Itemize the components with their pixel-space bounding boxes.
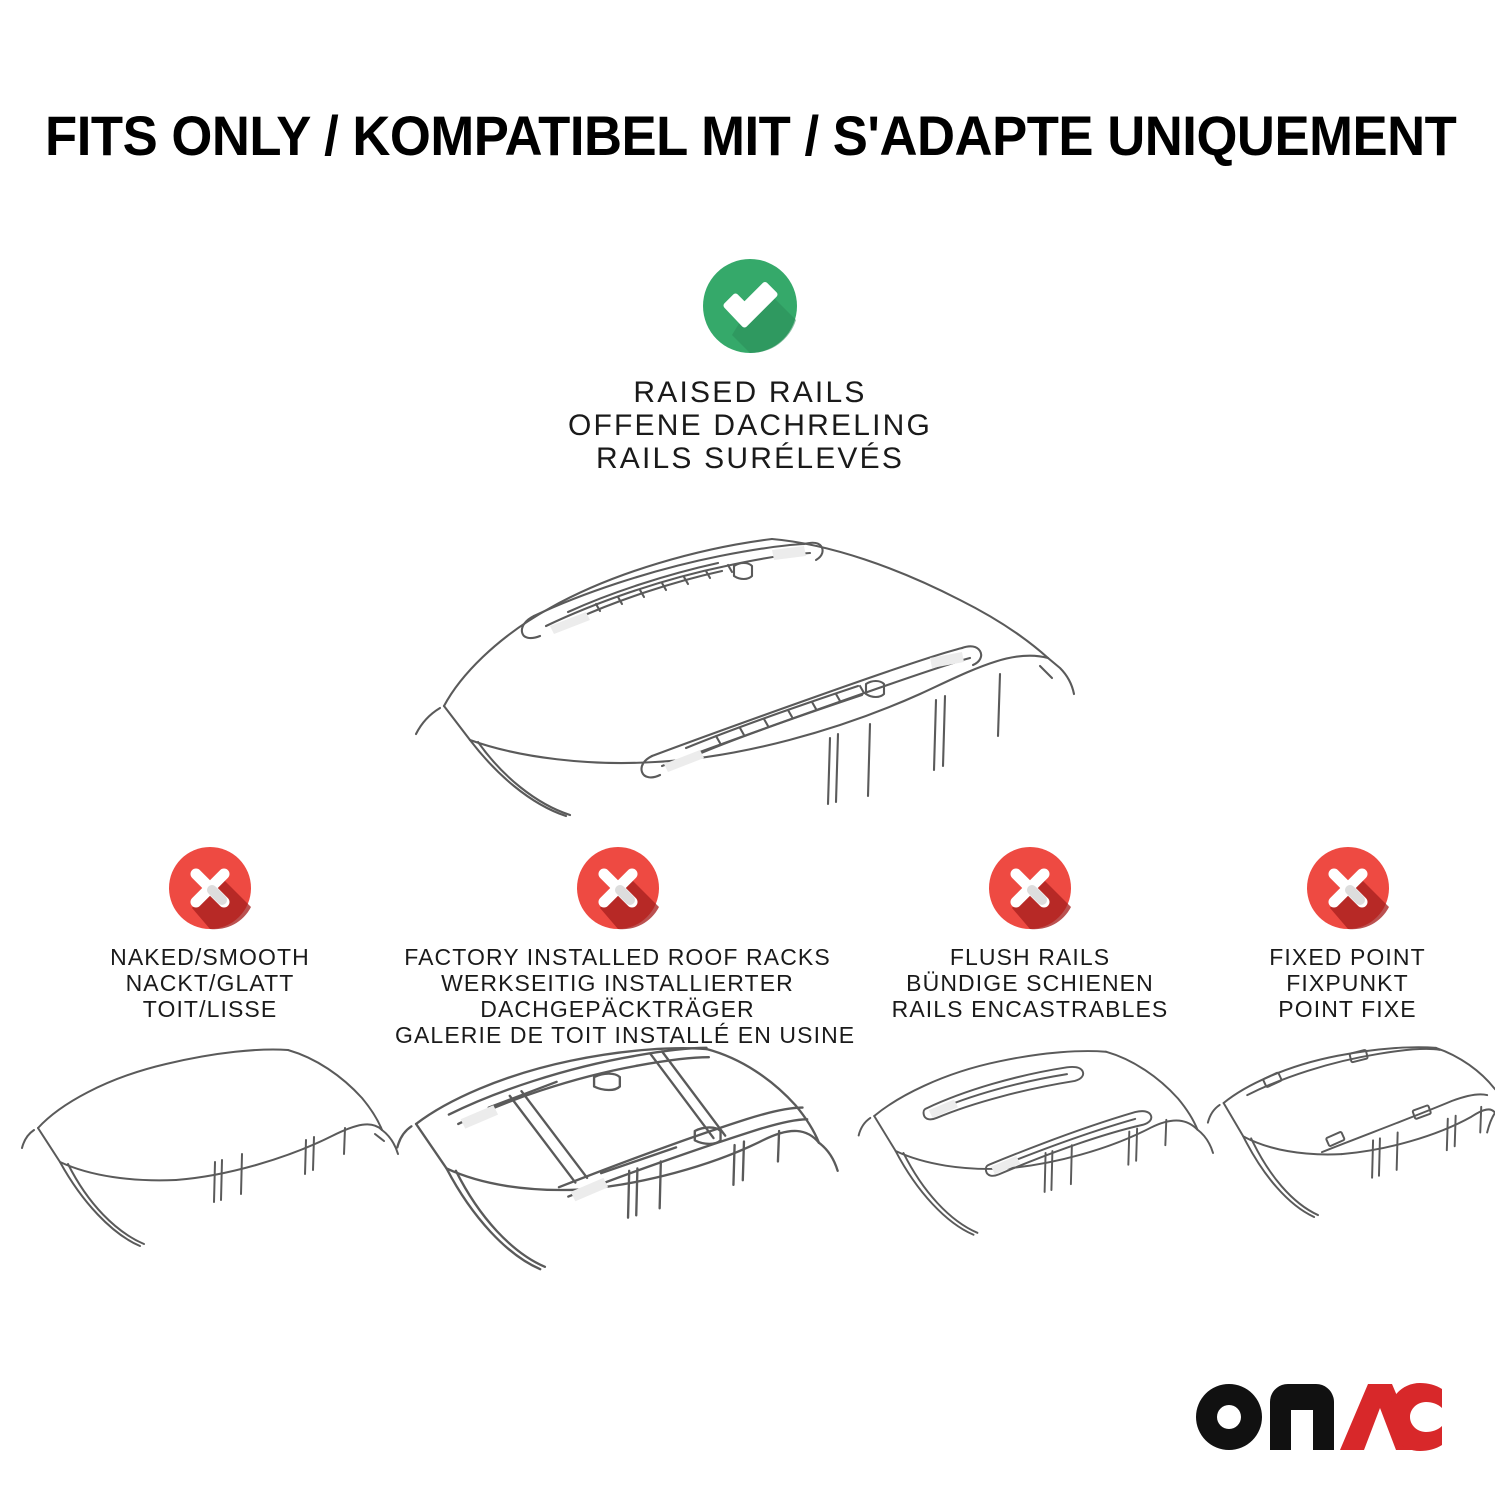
red-x-circle-icon <box>576 846 660 930</box>
label-line-en: FLUSH RAILS <box>845 944 1215 970</box>
compatible-labels: RAISED RAILS OFFENE DACHRELING RAILS SUR… <box>0 376 1500 475</box>
omac-logo-letter-o <box>1196 1384 1262 1450</box>
incompatible-column-naked-smooth: NAKED/SMOOTH NACKT/GLATT TOIT/LISSE <box>20 846 400 1022</box>
incompatible-column-factory-racks: FACTORY INSTALLED ROOF RACKS WERKSEITIG … <box>395 846 840 1048</box>
label-line-de-1: WERKSEITIG INSTALLIERTER <box>395 970 840 996</box>
incompatible-section: NAKED/SMOOTH NACKT/GLATT TOIT/LISSE <box>0 846 1500 1326</box>
incompatible-labels-factory-racks: FACTORY INSTALLED ROOF RACKS WERKSEITIG … <box>395 944 840 1048</box>
label-line-de-2: DACHGEPÄCKTRÄGER <box>395 996 840 1022</box>
red-x-circle-icon <box>988 846 1072 930</box>
page-title: FITS ONLY / KOMPATIBEL MIT / S'ADAPTE UN… <box>45 104 1456 168</box>
incompatible-labels-flush-rails: FLUSH RAILS BÜNDIGE SCHIENEN RAILS ENCAS… <box>845 944 1215 1022</box>
car-roof-raised-rails-illustration <box>400 508 1100 818</box>
red-x-circle-icon <box>1306 846 1390 930</box>
label-line-de: NACKT/GLATT <box>20 970 400 996</box>
page-title-bar: FITS ONLY / KOMPATIBEL MIT / S'ADAPTE UN… <box>0 104 1500 168</box>
label-line-fr: RAILS ENCASTRABLES <box>845 996 1215 1022</box>
car-roof-factory-racks-illustration <box>395 1042 840 1335</box>
label-line-fr: POINT FIXE <box>1200 996 1495 1022</box>
red-x-circle-icon <box>168 846 252 930</box>
incompatible-labels-fixed-point: FIXED POINT FIXPUNKT POINT FIXE <box>1200 944 1495 1022</box>
omac-logo <box>1196 1380 1442 1454</box>
label-line-en: FIXED POINT <box>1200 944 1495 970</box>
compatible-label-fr: RAILS SURÉLEVÉS <box>0 442 1500 475</box>
label-line-en: NAKED/SMOOTH <box>20 944 400 970</box>
label-line-fr: TOIT/LISSE <box>20 996 400 1022</box>
compatible-label-en: RAISED RAILS <box>0 376 1500 409</box>
incompatible-labels-naked-smooth: NAKED/SMOOTH NACKT/GLATT TOIT/LISSE <box>20 944 400 1022</box>
omac-logo-letter-m <box>1270 1384 1334 1450</box>
label-line-de: BÜNDIGE SCHIENEN <box>845 970 1215 996</box>
label-line-en: FACTORY INSTALLED ROOF RACKS <box>395 944 840 970</box>
label-line-de: FIXPUNKT <box>1200 970 1495 996</box>
car-roof-flush-rails-illustration <box>845 1042 1215 1285</box>
compatible-label-de: OFFENE DACHRELING <box>0 409 1500 442</box>
green-check-circle-icon <box>702 258 798 354</box>
car-roof-fixed-point-illustration <box>1200 1042 1495 1288</box>
incompatible-column-fixed-point: FIXED POINT FIXPUNKT POINT FIXE <box>1200 846 1495 1022</box>
compatible-section: RAISED RAILS OFFENE DACHRELING RAILS SUR… <box>0 258 1500 475</box>
incompatible-column-flush-rails: FLUSH RAILS BÜNDIGE SCHIENEN RAILS ENCAS… <box>845 846 1215 1022</box>
car-roof-naked-smooth-illustration <box>20 1042 400 1292</box>
